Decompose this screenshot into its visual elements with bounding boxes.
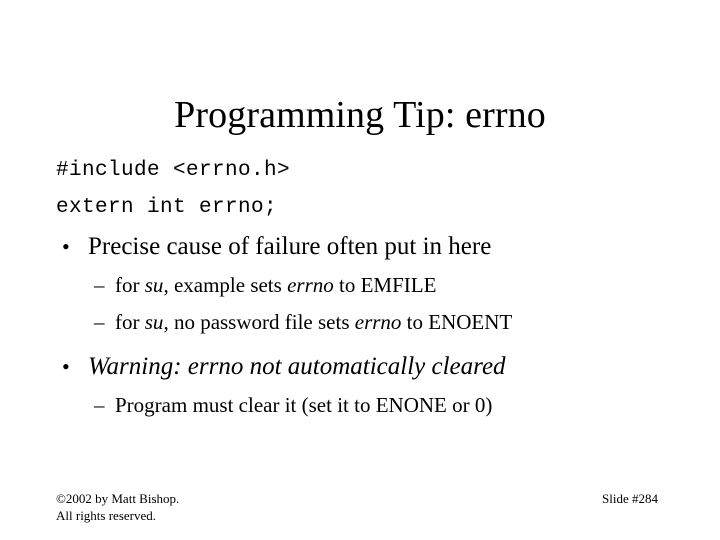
slide-body: #include <errno.h> extern int errno; • P…	[56, 152, 666, 421]
code-line-extern: extern int errno;	[56, 189, 666, 226]
bullet-label: Warning: errno not automatically cleared	[88, 353, 506, 380]
sub-bullet-part: to ENOENT	[401, 310, 512, 334]
footer-copyright-line: ©2002 by Matt Bishop.	[56, 490, 179, 507]
sub-bullet-part: Program must clear it (set it to ENONE o…	[115, 393, 492, 417]
sub-bullet-item-enoent: – for su, no password file sets errno to…	[56, 306, 666, 338]
bullet-label: Precise cause of failure often put in he…	[88, 233, 491, 260]
sub-bullet-part: to EMFILE	[334, 273, 437, 297]
bullet-marker-icon: •	[62, 349, 70, 384]
bullet-item-warning: • Warning: errno not automatically clear…	[56, 349, 666, 384]
slide-footer: ©2002 by Matt Bishop. All rights reserve…	[56, 490, 658, 524]
footer-rights-line: All rights reserved.	[56, 507, 179, 524]
bullet-item-precise-cause: • Precise cause of failure often put in …	[56, 229, 666, 264]
code-line-include: #include <errno.h>	[56, 152, 666, 189]
sub-bullet-part: , example sets	[163, 273, 287, 297]
sub-bullet-part: for	[115, 310, 145, 334]
sub-bullet-part: for	[115, 273, 145, 297]
block-spacer	[56, 338, 666, 346]
page-title: Programming Tip: errno	[0, 93, 720, 137]
sub-bullet-label: for su, no password file sets errno to E…	[115, 310, 512, 334]
slide-canvas: Programming Tip: errno #include <errno.h…	[0, 0, 720, 540]
footer-slide-number-block: Slide #284	[602, 490, 658, 507]
sub-bullet-part-italic: errno	[287, 273, 334, 297]
bullet-marker-icon: •	[62, 229, 70, 264]
sub-bullet-item-enone: – Program must clear it (set it to ENONE…	[56, 389, 666, 421]
sub-bullet-part-italic: su	[145, 310, 164, 334]
sub-bullet-part-italic: su	[145, 273, 164, 297]
slide-number: Slide #284	[602, 490, 658, 507]
sub-bullet-part: , no password file sets	[163, 310, 354, 334]
sub-bullet-label: Program must clear it (set it to ENONE o…	[115, 393, 492, 417]
sub-bullet-label: for su, example sets errno to EMFILE	[115, 273, 436, 297]
dash-marker-icon: –	[94, 306, 105, 338]
sub-bullet-item-emfile: – for su, example sets errno to EMFILE	[56, 269, 666, 301]
footer-copyright-block: ©2002 by Matt Bishop. All rights reserve…	[56, 490, 179, 524]
dash-marker-icon: –	[94, 269, 105, 301]
dash-marker-icon: –	[94, 389, 105, 421]
sub-bullet-part-italic: errno	[355, 310, 402, 334]
